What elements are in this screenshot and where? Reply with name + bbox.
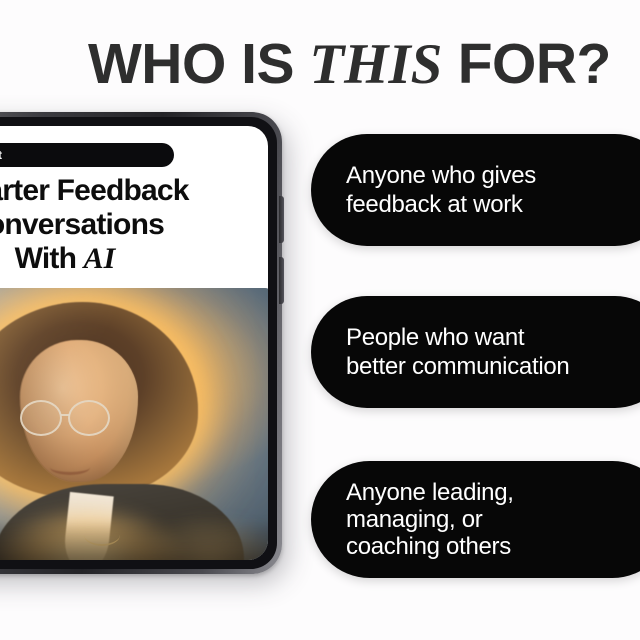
- page-title-part-2: FOR?: [442, 32, 610, 96]
- screen-title-line-2: Conversations: [0, 208, 268, 242]
- tablet-screen: ist Smarter Feedback Conversations With …: [0, 126, 268, 560]
- portrait-photo: [0, 288, 268, 560]
- audience-card-1[interactable]: Anyone who gives feedback at work: [311, 134, 640, 246]
- screen-title: Smarter Feedback Conversations With AI: [0, 174, 268, 276]
- volume-up-button[interactable]: [279, 196, 284, 243]
- screen-title-line-1: Smarter Feedback: [0, 174, 268, 208]
- page-title-emphasis: THIS: [309, 33, 442, 96]
- lens-haze: [0, 288, 268, 560]
- page-title: WHO IS THIS FOR?: [88, 33, 608, 96]
- tablet-device: ist Smarter Feedback Conversations With …: [0, 112, 282, 574]
- volume-down-button[interactable]: [279, 257, 284, 304]
- screen-topbar: ist: [0, 143, 174, 167]
- tablet-bezel: ist Smarter Feedback Conversations With …: [0, 117, 277, 569]
- screen-title-emphasis: AI: [84, 242, 116, 275]
- audience-card-2[interactable]: People who want better communication: [311, 296, 640, 408]
- audience-card-3[interactable]: Anyone leading, managing, or coaching ot…: [311, 461, 640, 578]
- screen-topbar-label: ist: [0, 148, 2, 162]
- audience-card-3-label: Anyone leading, managing, or coaching ot…: [346, 479, 514, 560]
- screen-title-line-3-plain: With: [15, 242, 84, 275]
- slide-canvas: WHO IS THIS FOR? ist Smarter Feedback Co…: [0, 0, 640, 640]
- page-title-part-1: WHO IS: [88, 32, 309, 96]
- audience-card-1-label: Anyone who gives feedback at work: [346, 161, 536, 219]
- audience-card-2-label: People who want better communication: [346, 323, 569, 381]
- screen-title-line-3: With AI: [0, 242, 268, 276]
